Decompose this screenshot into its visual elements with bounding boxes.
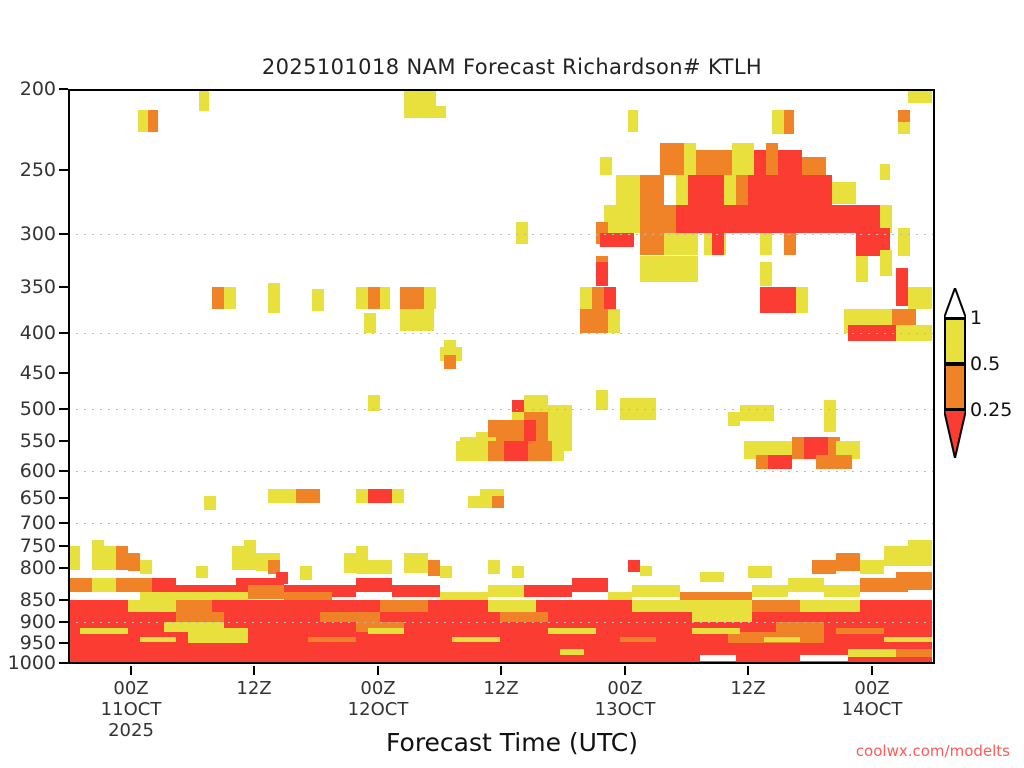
heatmap-cell — [424, 287, 436, 309]
y-axis-tick-label: 300 — [20, 223, 56, 245]
chart-canvas: 2025101018 NAM Forecast Richardson# KTLH… — [0, 0, 1024, 768]
heatmap-cell — [640, 175, 664, 205]
heatmap-cell — [400, 287, 424, 309]
heatmap-cell — [224, 287, 236, 309]
heatmap-cell — [836, 553, 860, 571]
x-axis-tick — [747, 666, 749, 675]
heatmap-cell — [700, 655, 736, 661]
x-axis-tick-label: 00Z13OCT — [595, 678, 656, 720]
heatmap-cell — [404, 106, 446, 118]
heatmap-cell — [128, 600, 176, 612]
heatmap-cell — [500, 612, 548, 622]
heatmap-cell — [740, 405, 774, 421]
y-axis-tick-label: 250 — [20, 159, 56, 181]
heatmap-cell — [836, 628, 884, 634]
heatmap-cell — [908, 89, 932, 103]
heatmap-cell — [152, 578, 176, 592]
y-axis-tick — [59, 567, 68, 569]
heatmap-cell — [404, 553, 428, 573]
chart-title: 2025101018 NAM Forecast Richardson# KTLH — [0, 55, 1024, 79]
heatmap-cell — [572, 578, 608, 592]
heatmap-cell — [676, 205, 836, 233]
heatmap-cell — [512, 566, 524, 578]
colorbar-tick-label: 0.5 — [970, 353, 1000, 375]
heatmap-cell — [752, 612, 800, 622]
heatmap-cell — [488, 600, 536, 612]
y-axis-tick — [59, 408, 68, 410]
heatmap-cell — [736, 175, 748, 205]
heatmap-cell — [660, 143, 684, 175]
heatmap-cell — [548, 612, 632, 622]
heatmap-cell — [268, 283, 280, 313]
x-axis-tick-label: 12Z — [730, 678, 765, 699]
heatmap-cell — [596, 262, 608, 286]
plot-area — [68, 89, 935, 664]
heatmap-cell — [812, 560, 836, 574]
heatmap-cell — [356, 578, 392, 592]
heatmap-cell — [688, 175, 724, 205]
heatmap-cell — [872, 612, 932, 622]
heatmap-cell — [768, 455, 792, 469]
y-axis-tick-label: 550 — [20, 430, 56, 452]
colorbar-segment — [944, 318, 966, 364]
y-axis-tick-label: 450 — [20, 362, 56, 384]
gridline — [68, 471, 935, 472]
heatmap-cell — [664, 175, 676, 205]
heatmap-cell — [800, 655, 848, 661]
heatmap-cell — [444, 340, 456, 352]
heatmap-cell — [664, 233, 698, 255]
heatmap-cell — [684, 143, 696, 175]
gridline — [68, 622, 935, 623]
heatmap-cell — [368, 560, 392, 574]
x-axis-tick — [500, 666, 502, 675]
y-axis-tick-label: 400 — [20, 322, 56, 344]
heatmap-cell — [308, 637, 356, 642]
heatmap-cell — [244, 540, 256, 570]
heatmap-cell — [392, 489, 404, 503]
heatmap-cell — [380, 612, 428, 622]
x-axis-tick-label: 00Z14OCT — [842, 678, 903, 720]
y-axis-tick-label: 600 — [20, 460, 56, 482]
heatmap-cell — [700, 572, 724, 582]
heatmap-cell — [748, 175, 832, 205]
y-axis-tick — [59, 372, 68, 374]
x-axis-tick-label: 12Z — [236, 678, 271, 699]
y-axis-tick — [59, 332, 68, 334]
heatmap-cell — [148, 110, 158, 132]
heatmap-cell — [138, 110, 148, 132]
heatmap-cell — [760, 262, 772, 286]
y-axis-tick-label: 900 — [20, 611, 56, 633]
heatmap-cell — [199, 89, 209, 111]
heatmap-cell — [404, 622, 500, 632]
y-axis-tick-label: 950 — [20, 632, 56, 654]
gridline — [68, 333, 935, 334]
y-axis-tick — [59, 497, 68, 499]
heatmap-cell — [176, 600, 212, 612]
x-axis-tick — [253, 666, 255, 675]
y-axis-tick — [59, 642, 68, 644]
heatmap-cell — [524, 585, 572, 597]
heatmap-cell — [776, 622, 824, 632]
y-axis-tick-label: 700 — [20, 512, 56, 534]
x-axis-tick-label: 00Z12OCT — [348, 678, 409, 720]
y-axis-tick — [59, 545, 68, 547]
heatmap-cell — [556, 420, 568, 442]
heatmap-cell — [364, 313, 376, 333]
heatmap-cell — [296, 622, 356, 632]
heatmap-cell — [536, 600, 572, 612]
heatmap-cell — [604, 205, 640, 233]
heatmap-cell — [552, 441, 564, 461]
heatmap-cell — [896, 280, 908, 306]
heatmap-cell — [880, 250, 892, 276]
heatmap-cell — [196, 566, 208, 578]
heatmap-cell — [692, 628, 740, 634]
colorbar-under-arrow — [944, 410, 966, 458]
heatmap-cell — [778, 150, 802, 175]
heatmap-cell — [224, 612, 320, 622]
colorbar-over-arrow-outline — [944, 288, 966, 318]
heatmap-cell — [640, 256, 698, 282]
heatmap-cell — [504, 441, 528, 461]
heatmap-cell — [248, 585, 284, 599]
heatmap-cell — [116, 578, 152, 592]
heatmap-cell — [140, 637, 176, 642]
heatmap-cell — [516, 222, 528, 244]
heatmap-cell — [632, 600, 680, 612]
x-axis-tick — [377, 666, 379, 675]
heatmap-cell — [884, 637, 932, 642]
heatmap-cell — [896, 572, 932, 590]
heatmap-cell — [428, 560, 440, 576]
heatmap-cell — [712, 233, 724, 255]
heatmap-cell — [212, 628, 248, 634]
heatmap-cell — [628, 110, 638, 132]
heatmap-cell — [368, 628, 404, 634]
heatmap-cell — [368, 489, 392, 503]
heatmap-cell — [392, 585, 440, 597]
heatmap-cell — [596, 390, 608, 410]
heatmap-cell — [898, 228, 910, 256]
y-axis-tick — [59, 440, 68, 442]
heatmap-cell — [898, 122, 910, 134]
heatmap-cell — [620, 637, 656, 642]
heatmap-cell — [580, 309, 592, 333]
y-axis-tick-label: 350 — [20, 276, 56, 298]
heatmap-cell — [284, 600, 380, 612]
heatmap-cell — [800, 612, 872, 622]
heatmap-cell — [440, 566, 452, 578]
heatmap-cell — [802, 157, 826, 175]
y-axis-tick-label: 1000 — [8, 652, 56, 674]
colorbar-segment — [944, 364, 966, 410]
y-axis-tick-label: 650 — [20, 487, 56, 509]
heatmap-cell — [752, 585, 788, 597]
heatmap-cell — [608, 309, 620, 333]
heatmap-cell — [128, 553, 140, 571]
heatmap-cell — [848, 649, 896, 657]
heatmap-cell — [68, 546, 80, 570]
heatmap-cell — [632, 585, 680, 597]
heatmap-cell — [884, 546, 908, 566]
heatmap-cell — [640, 566, 652, 576]
heatmap-cell — [488, 585, 524, 597]
heatmap-cell — [696, 150, 732, 175]
y-axis-tick-label: 750 — [20, 535, 56, 557]
heatmap-cell — [356, 489, 368, 503]
heatmap-cell — [68, 578, 92, 592]
y-axis-tick — [59, 621, 68, 623]
heatmap-cell — [68, 612, 176, 622]
heatmap-cell — [368, 287, 380, 309]
heatmap-cell — [488, 560, 500, 574]
heatmap-cell — [856, 256, 868, 282]
heatmap-cell — [764, 637, 800, 642]
heatmap-cell — [640, 205, 676, 233]
x-axis-tick-label: 12Z — [483, 678, 518, 699]
gridline — [68, 234, 935, 235]
heatmap-cell — [600, 157, 612, 175]
heatmap-cell — [560, 649, 584, 655]
heatmap-cell — [428, 600, 488, 612]
y-axis-tick — [59, 599, 68, 601]
heatmap-cell — [452, 637, 500, 642]
heatmap-cell — [68, 600, 128, 612]
watermark: coolwx.com/modelts — [856, 742, 1010, 760]
heatmap-cell — [320, 612, 380, 622]
heatmap-cell — [724, 175, 736, 205]
heatmap-cell — [800, 600, 860, 612]
y-axis-tick — [59, 169, 68, 171]
heatmap-cell — [796, 287, 808, 313]
heatmap-cell — [632, 612, 692, 622]
y-axis-tick — [59, 470, 68, 472]
heatmap-cell — [728, 412, 740, 426]
x-axis-tick — [130, 666, 132, 675]
heatmap-cell — [760, 233, 772, 255]
heatmap-cell — [896, 649, 932, 657]
heatmap-cell — [816, 455, 852, 469]
heatmap-cell — [296, 489, 320, 503]
heatmap-cell — [344, 553, 356, 573]
y-axis-tick — [59, 522, 68, 524]
heatmap-cell — [116, 546, 128, 570]
heatmap-cell — [404, 89, 436, 106]
heatmap-cell — [232, 546, 244, 570]
heatmap-cell — [748, 566, 772, 578]
heatmap-cell — [908, 540, 932, 566]
y-axis-tick — [59, 88, 68, 90]
heatmap-cell — [400, 309, 434, 331]
heatmap-cell — [380, 600, 428, 612]
y-axis-tick — [59, 286, 68, 288]
heatmap-cell — [212, 600, 284, 612]
y-axis-tick-label: 800 — [20, 557, 56, 579]
heatmap-cell — [752, 600, 800, 612]
y-axis-tick-label: 200 — [20, 78, 56, 100]
gridline — [68, 523, 935, 524]
colorbar-tick-label: 0.25 — [970, 399, 1012, 421]
heatmap-cell — [140, 560, 152, 574]
heatmap-cell — [784, 110, 794, 134]
heatmap-cell — [524, 420, 536, 442]
heatmap-cell — [766, 143, 778, 175]
y-axis-tick-label: 500 — [20, 398, 56, 420]
heatmap-cell — [176, 612, 224, 622]
heatmap-cell — [908, 287, 932, 309]
heatmap-cell — [300, 566, 312, 580]
gridline — [68, 663, 935, 664]
y-axis-tick — [59, 662, 68, 664]
x-axis-tick — [871, 666, 873, 675]
x-axis-tick — [624, 666, 626, 675]
heatmap-cell — [824, 400, 836, 432]
heatmap-cell — [92, 540, 104, 570]
heatmap-cell — [572, 600, 632, 612]
heatmap-cell — [428, 612, 500, 622]
heatmap-cell — [80, 628, 128, 634]
heatmap-cell — [356, 546, 368, 574]
y-axis: 2002503003504004505005506006507007508008… — [0, 0, 68, 768]
heatmap-cell — [880, 164, 890, 180]
heatmap-cell — [680, 600, 752, 612]
heatmap-cell — [548, 628, 596, 634]
heatmap-cell — [784, 233, 796, 255]
heatmap-cell — [788, 578, 824, 592]
heatmap-cell — [832, 182, 856, 204]
gridline — [68, 409, 935, 410]
heatmap-cell — [760, 287, 796, 313]
heatmap-cell — [528, 441, 552, 461]
heatmap-cell — [204, 496, 216, 510]
heatmap-cell — [860, 560, 884, 574]
heatmap-cell — [580, 287, 592, 309]
heatmap-cell — [604, 287, 616, 309]
heatmap-cell — [92, 578, 116, 592]
heatmap-cell — [68, 643, 932, 655]
y-axis-tick-label: 850 — [20, 589, 56, 611]
heatmap-cell — [692, 612, 752, 622]
heatmap-cell — [312, 289, 324, 311]
heatmap-cell — [600, 233, 634, 247]
heatmap-cell — [824, 585, 860, 597]
heatmap-cell — [444, 355, 456, 369]
heatmap-cell — [628, 560, 640, 572]
heatmap-cell — [732, 143, 754, 175]
y-axis-tick — [59, 233, 68, 235]
heatmap-cell — [640, 233, 664, 255]
heatmap-cell — [492, 496, 504, 508]
heatmap-cell — [860, 600, 932, 612]
colorbar-tick-label: 1 — [970, 307, 982, 329]
